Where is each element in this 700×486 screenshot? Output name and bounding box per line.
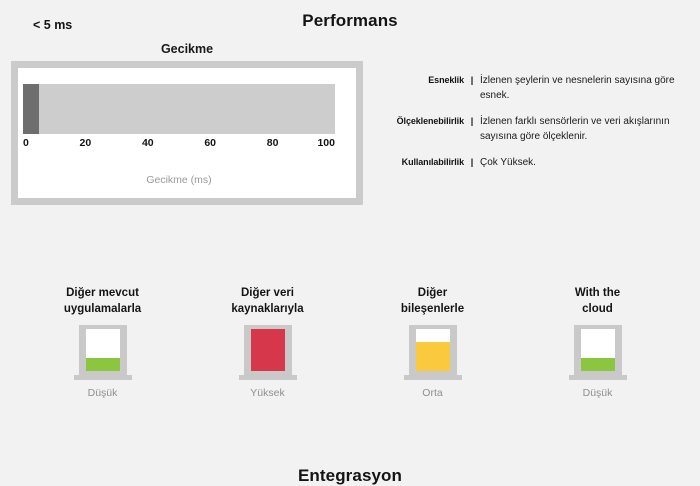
- attribute-separator: |: [464, 155, 480, 169]
- x-axis-tick-label: 0: [23, 137, 29, 149]
- x-axis-tick-label: 40: [142, 137, 154, 149]
- attribute-term: Kullanılabilirlik: [372, 155, 464, 169]
- gauge-body: [79, 325, 127, 375]
- attribute-description: İzlenen şeylerin ve nesnelerin sayısına …: [480, 73, 690, 103]
- gauge-base: [239, 375, 297, 380]
- integration-gauge-label: With the cloud: [575, 285, 620, 317]
- integration-gauge-value-label: Düşük: [88, 387, 118, 399]
- x-axis-tick-label: 80: [267, 137, 279, 149]
- attribute-separator: |: [464, 73, 480, 87]
- integration-gauge-item: With the cloudDüşük: [523, 285, 673, 399]
- attribute-row: Ölçeklenebilirlik|İzlenen farklı sensörl…: [372, 114, 690, 144]
- gauge-inner: [251, 329, 285, 371]
- integration-section-title: Entegrasyon: [0, 466, 700, 486]
- integration-gauges-row: Diğer mevcut uygulamalarlaDüşükDiğer ver…: [20, 285, 680, 399]
- gauge-inner: [416, 329, 450, 371]
- gauge-fill: [581, 358, 615, 371]
- integration-gauge-value-label: Düşük: [583, 387, 613, 399]
- gauge-inner: [86, 329, 120, 371]
- gauge-body: [409, 325, 457, 375]
- gauge-fill: [416, 342, 450, 371]
- integration-gauge-label: Diğer bileşenlerle: [401, 285, 464, 317]
- x-axis-tick-label: 20: [80, 137, 92, 149]
- gauge-inner: [581, 329, 615, 371]
- attribute-term: Esneklik: [372, 73, 464, 87]
- x-axis-tick-label: 100: [317, 137, 335, 149]
- integration-section: Entegrasyon Diğer mevcut uygulamalarlaDü…: [0, 225, 700, 415]
- latency-chart-track: [23, 84, 335, 134]
- x-axis-tick-label: 60: [204, 137, 216, 149]
- latency-chart-x-axis-title: Gecikme (ms): [23, 174, 335, 186]
- latency-bar: [23, 84, 39, 134]
- gauge-icon: [239, 325, 297, 380]
- performance-section: Performans Gecikme < 5 ms 020406080100 G…: [0, 0, 700, 225]
- gauge-body: [244, 325, 292, 375]
- latency-chart-x-axis: 020406080100: [23, 137, 335, 155]
- gauge-body: [574, 325, 622, 375]
- attribute-row: Kullanılabilirlik|Çok Yüksek.: [372, 155, 690, 170]
- attribute-separator: |: [464, 114, 480, 128]
- gauge-fill: [251, 329, 285, 371]
- gauge-icon: [569, 325, 627, 380]
- integration-gauge-value-label: Yüksek: [250, 387, 284, 399]
- attribute-term: Ölçeklenebilirlik: [372, 114, 464, 128]
- integration-gauge-label: Diğer veri kaynaklarıyla: [231, 285, 303, 317]
- gauge-base: [404, 375, 462, 380]
- gauge-fill: [86, 358, 120, 371]
- latency-chart-plot: [23, 84, 335, 134]
- latency-bar-value-label: < 5 ms: [33, 0, 72, 50]
- performance-attributes-list: Esneklik|İzlenen şeylerin ve nesnelerin …: [372, 73, 690, 181]
- attribute-description: Çok Yüksek.: [480, 155, 690, 170]
- gauge-base: [74, 375, 132, 380]
- integration-gauge-value-label: Orta: [422, 387, 442, 399]
- integration-gauge-item: Diğer mevcut uygulamalarlaDüşük: [28, 285, 178, 399]
- integration-gauge-item: Diğer veri kaynaklarıylaYüksek: [193, 285, 343, 399]
- gauge-icon: [74, 325, 132, 380]
- integration-gauge-item: Diğer bileşenlerleOrta: [358, 285, 508, 399]
- attribute-description: İzlenen farklı sensörlerin ve veri akışl…: [480, 114, 690, 144]
- performance-section-title: Performans: [0, 11, 700, 31]
- integration-gauge-label: Diğer mevcut uygulamalarla: [64, 285, 141, 317]
- gauge-base: [569, 375, 627, 380]
- attribute-row: Esneklik|İzlenen şeylerin ve nesnelerin …: [372, 73, 690, 103]
- gauge-icon: [404, 325, 462, 380]
